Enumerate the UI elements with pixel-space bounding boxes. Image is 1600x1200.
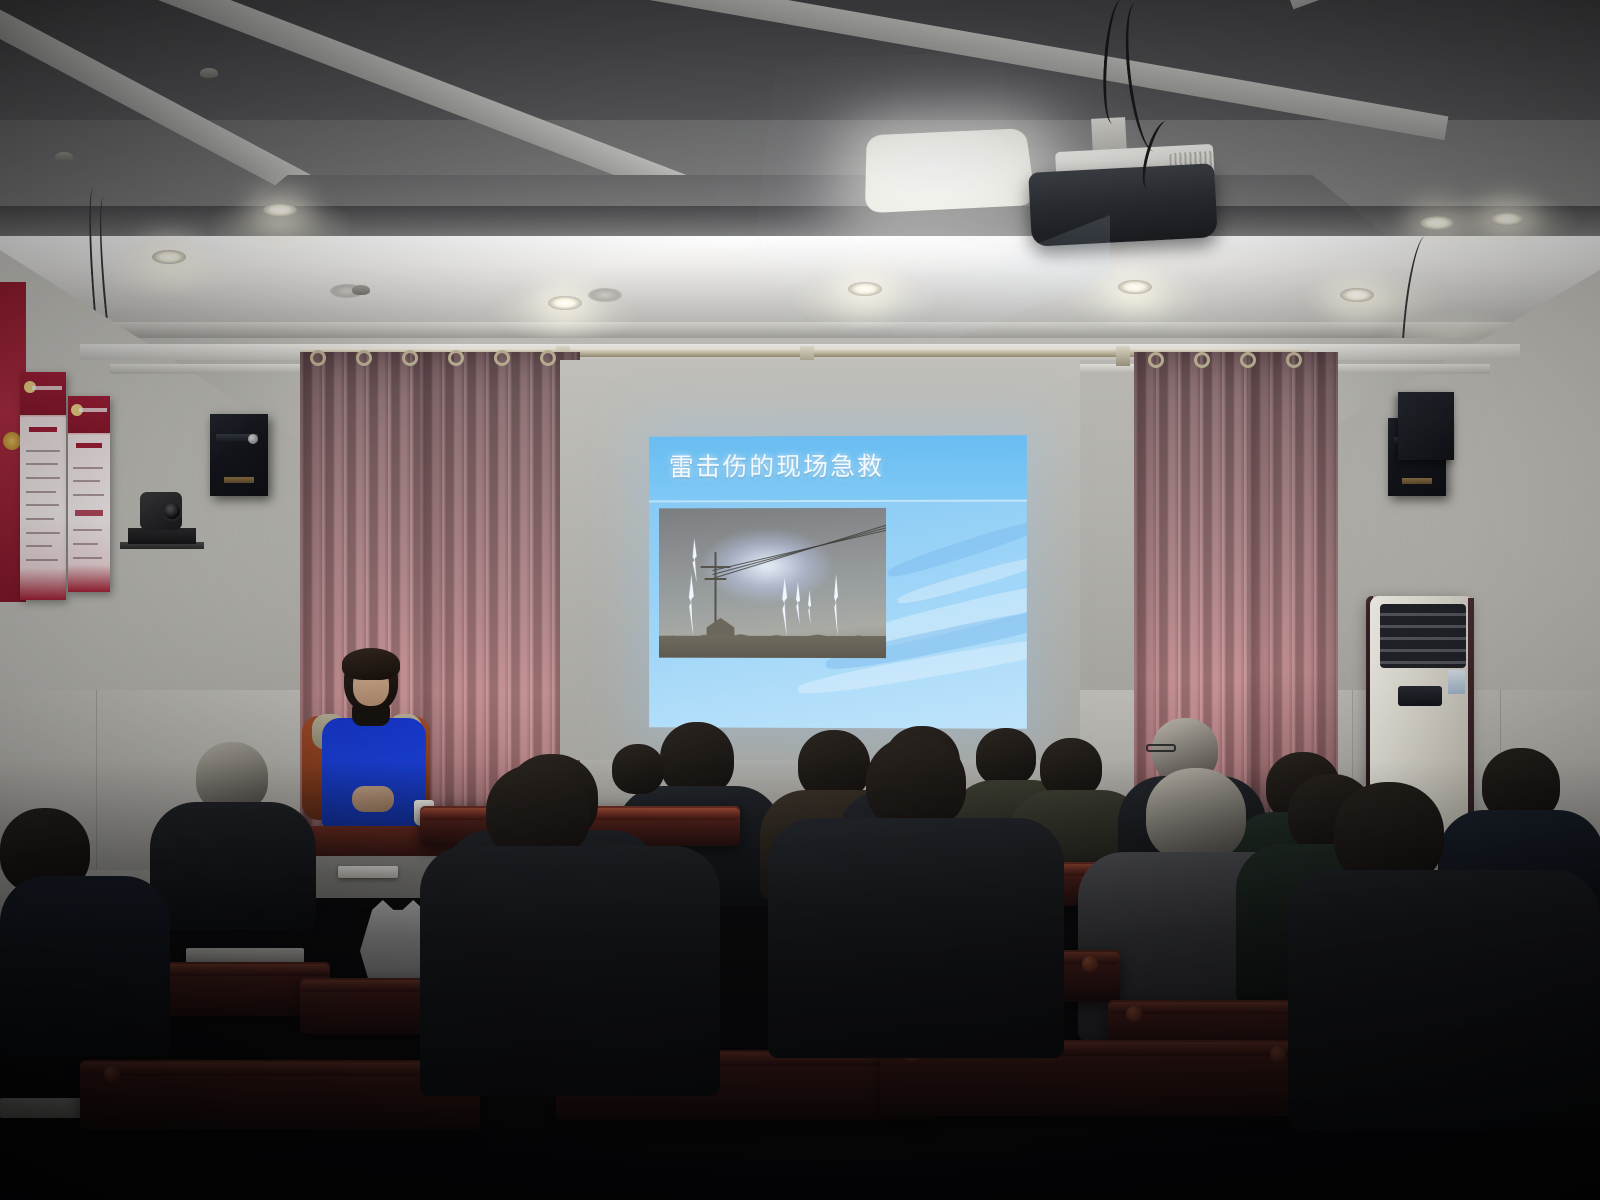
lightning-bolt	[693, 538, 697, 582]
poster-header-text	[79, 408, 107, 412]
speaker-badge	[224, 477, 254, 483]
speaker-knob-icon	[248, 434, 258, 444]
poster-body-line	[73, 494, 104, 496]
wall-poster-left	[20, 372, 66, 600]
speaker-badge	[1402, 478, 1432, 483]
poster-body-line	[26, 477, 61, 479]
ceiling-downlight	[263, 203, 297, 217]
open-notebook	[338, 866, 398, 878]
lightning-bolt	[689, 574, 694, 636]
poster-body-line	[73, 467, 103, 469]
ac-side-trim-right	[1468, 598, 1474, 842]
ac-grille	[1380, 604, 1466, 668]
ceiling-downlight	[848, 282, 882, 296]
ceiling-downlight	[1490, 212, 1524, 226]
photo-ground	[659, 636, 886, 658]
bench-knob	[1082, 956, 1098, 972]
slide-photo-lightning	[659, 508, 886, 658]
poster-body-line	[26, 491, 56, 493]
tile-seam	[96, 690, 97, 870]
poster-body-line	[26, 504, 59, 506]
curtain-grommet	[494, 350, 510, 366]
curtain-grommet	[310, 350, 326, 366]
downlight-glow	[1060, 268, 1210, 328]
curtain-rod-bracket	[1116, 346, 1130, 366]
curtain-grommet	[1240, 352, 1256, 368]
banner-seal-icon	[3, 432, 21, 450]
bench-knob	[1126, 1006, 1142, 1022]
lightning-bolt	[834, 574, 838, 636]
camera-lens-icon	[162, 501, 182, 521]
pole-crossarm	[701, 566, 731, 568]
slide-title: 雷击伤的现场急救	[669, 450, 884, 485]
wall-poster-right	[68, 396, 110, 592]
poster-red-band	[75, 510, 104, 516]
bench-knob	[104, 1066, 120, 1082]
curtain-grommet	[402, 350, 418, 366]
poster-header-text	[32, 386, 62, 390]
poster-body-line	[26, 463, 58, 465]
projector	[1028, 163, 1218, 247]
pole-crossarm	[705, 578, 727, 580]
poster-header	[20, 372, 66, 415]
ceiling-downlight	[152, 250, 186, 264]
sprinkler-head	[55, 152, 73, 162]
projected-slide: 雷击伤的现场急救	[649, 435, 1027, 729]
ac-energy-label	[1448, 670, 1465, 694]
slide-divider	[649, 500, 1027, 503]
ceiling-downlight	[1340, 288, 1374, 302]
wall-mounted-equipment-box	[1398, 392, 1454, 460]
poster-body-line	[73, 529, 102, 531]
poster-title-text	[29, 427, 57, 432]
poster-body-line	[26, 559, 58, 561]
poster-title-text	[76, 443, 101, 448]
sprinkler-head	[352, 285, 370, 295]
ac-display-panel	[1398, 686, 1442, 706]
ceiling-downlight-off	[588, 288, 622, 302]
poster-body-line	[73, 480, 100, 482]
presenter-hands	[352, 786, 394, 812]
bench-knob	[1270, 1046, 1286, 1062]
curtain-grommet	[448, 350, 464, 366]
curtain-grommet	[356, 350, 372, 366]
eyeglasses-icon	[1146, 744, 1176, 752]
poster-body-line	[26, 532, 60, 534]
wall-speaker-left	[210, 414, 268, 496]
downlight-glow	[790, 270, 940, 330]
ceiling-downlight	[1118, 280, 1152, 294]
ceiling-downlight	[548, 296, 582, 310]
ceiling-downlight	[1420, 216, 1454, 230]
poster-body-line	[26, 545, 53, 547]
meeting-room-photo: 雷击伤的现场急救	[0, 0, 1600, 1200]
poster-body-line	[26, 450, 60, 452]
lightning-bolt	[808, 590, 811, 624]
curtain-right-inner	[1248, 352, 1338, 822]
curtain-grommet	[1194, 352, 1210, 368]
curtain-grommet	[1286, 352, 1302, 368]
poster-body-line	[73, 557, 102, 559]
curtain-grommet	[1148, 352, 1164, 368]
curtain-grommet	[540, 350, 556, 366]
ceiling-panel-light	[865, 128, 1036, 213]
sprinkler-head	[200, 68, 218, 78]
presenter-hair-front	[342, 648, 400, 680]
poster-body-line	[26, 518, 55, 520]
poster-body-line	[73, 543, 98, 545]
camera-base	[128, 528, 196, 544]
